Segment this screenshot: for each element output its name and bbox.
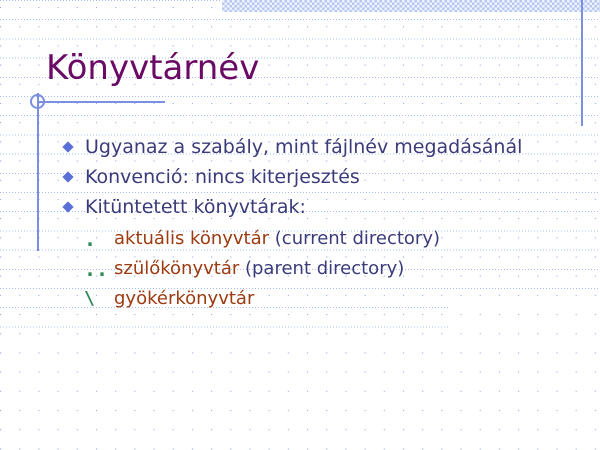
sub-bullet-list: . aktuális könyvtár (current directory) … xyxy=(62,224,582,314)
diamond-bullet-icon xyxy=(62,201,73,212)
sub-bullet-gloss: (parent directory) xyxy=(239,258,404,279)
sub-bullet-term: aktuális könyvtár xyxy=(114,228,269,249)
bullet-label: Ugyanaz a szabály, mint fájlnév megadásá… xyxy=(85,136,522,158)
diamond-bullet-icon xyxy=(62,141,73,152)
dot-marker-icon: . xyxy=(84,224,114,254)
bullet-item: Konvenció: nincs kiterjesztés xyxy=(62,162,582,192)
top-decorative-band xyxy=(222,0,600,12)
circle-node-decoration xyxy=(30,94,45,109)
right-vertical-accent-line xyxy=(581,0,583,126)
sub-bullet-gloss: (current directory) xyxy=(269,228,440,249)
title-underline-accent xyxy=(37,101,165,103)
bullet-item: Kitüntetett könyvtárak: xyxy=(62,192,582,222)
diamond-bullet-icon xyxy=(62,171,73,182)
backslash-marker-icon: \ xyxy=(84,284,114,314)
sub-bullet-item: . aktuális könyvtár (current directory) xyxy=(62,224,582,254)
sub-bullet-item: \ gyökérkönyvtár xyxy=(62,284,582,314)
sub-bullet-term: szülőkönyvtár xyxy=(114,258,239,279)
slide-title: Könyvtárnév xyxy=(46,48,259,88)
bullet-label: Kitüntetett könyvtárak: xyxy=(85,196,306,218)
bullet-label: Konvenció: nincs kiterjesztés xyxy=(85,166,360,188)
slide-canvas: Könyvtárnév Ugyanaz a szabály, mint fájl… xyxy=(0,0,600,450)
sub-bullet-term: gyökérkönyvtár xyxy=(114,288,254,309)
bullet-item: Ugyanaz a szabály, mint fájlnév megadásá… xyxy=(62,132,582,162)
slide-body-list: Ugyanaz a szabály, mint fájlnév megadásá… xyxy=(62,132,582,314)
double-dot-marker-icon: .. xyxy=(84,254,114,284)
left-vertical-accent-line xyxy=(37,93,39,251)
sub-bullet-item: .. szülőkönyvtár (parent directory) xyxy=(62,254,582,284)
